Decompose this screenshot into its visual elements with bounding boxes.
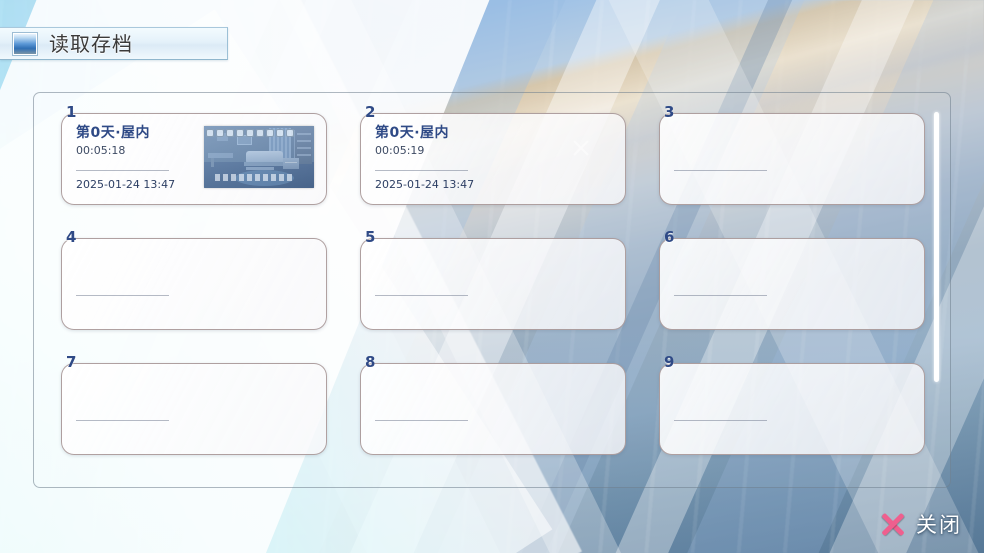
slot-divider (375, 420, 468, 421)
slot-divider (76, 295, 169, 296)
save-slot-2[interactable]: 2 第0天·屋内 00:05:19 2025-01-24 13:47 (360, 113, 626, 205)
slot-number: 3 (664, 105, 674, 120)
save-slot-3[interactable]: 3 (659, 113, 925, 205)
slot-datetime: 2025-01-24 13:47 (375, 178, 474, 191)
slot-divider (674, 295, 767, 296)
save-slot-5[interactable]: 5 (360, 238, 626, 330)
save-slot-6[interactable]: 6 (659, 238, 925, 330)
scrollbar-track[interactable] (934, 112, 939, 382)
slot-number: 5 (365, 230, 375, 245)
slot-number: 2 (365, 105, 375, 120)
save-slot-7[interactable]: 7 (61, 363, 327, 455)
save-slot-9[interactable]: 9 (659, 363, 925, 455)
page-title: 读取存档 (49, 34, 133, 54)
slot-divider (674, 170, 767, 171)
slot-number: 9 (664, 355, 674, 370)
slot-divider (375, 170, 468, 171)
slot-number: 4 (66, 230, 76, 245)
save-slot-4[interactable]: 4 (61, 238, 327, 330)
scrollbar-thumb[interactable] (934, 112, 939, 382)
slot-number: 1 (66, 105, 76, 120)
save-slots-panel: 1 第0天·屋内 00:05:18 2025-01-24 13:47 (33, 92, 951, 488)
save-slot-8[interactable]: 8 (360, 363, 626, 455)
slot-divider (76, 420, 169, 421)
game-load-save-screen: 读取存档 1 第0天·屋内 00:05:18 2025-01-24 13:47 (0, 0, 984, 553)
image-thumbnail-icon (13, 33, 37, 55)
slot-divider (674, 420, 767, 421)
thumbnail-hud-icons (206, 128, 312, 137)
close-button[interactable]: 关闭 (880, 509, 962, 539)
slot-divider (375, 295, 468, 296)
slot-number: 7 (66, 355, 76, 370)
window-title-bar: 读取存档 (0, 27, 228, 60)
cross-icon (880, 511, 906, 537)
slot-number: 8 (365, 355, 375, 370)
delete-save-icon[interactable] (571, 138, 591, 158)
slot-number: 6 (664, 230, 674, 245)
close-button-label: 关闭 (916, 509, 962, 539)
thumbnail-subtitle-text (215, 174, 294, 181)
save-slot-1[interactable]: 1 第0天·屋内 00:05:18 2025-01-24 13:47 (61, 113, 327, 205)
slot-divider (76, 170, 169, 171)
slot-datetime: 2025-01-24 13:47 (76, 178, 175, 191)
slot-thumbnail (204, 126, 314, 188)
save-slots-grid: 1 第0天·屋内 00:05:18 2025-01-24 13:47 (61, 113, 933, 455)
